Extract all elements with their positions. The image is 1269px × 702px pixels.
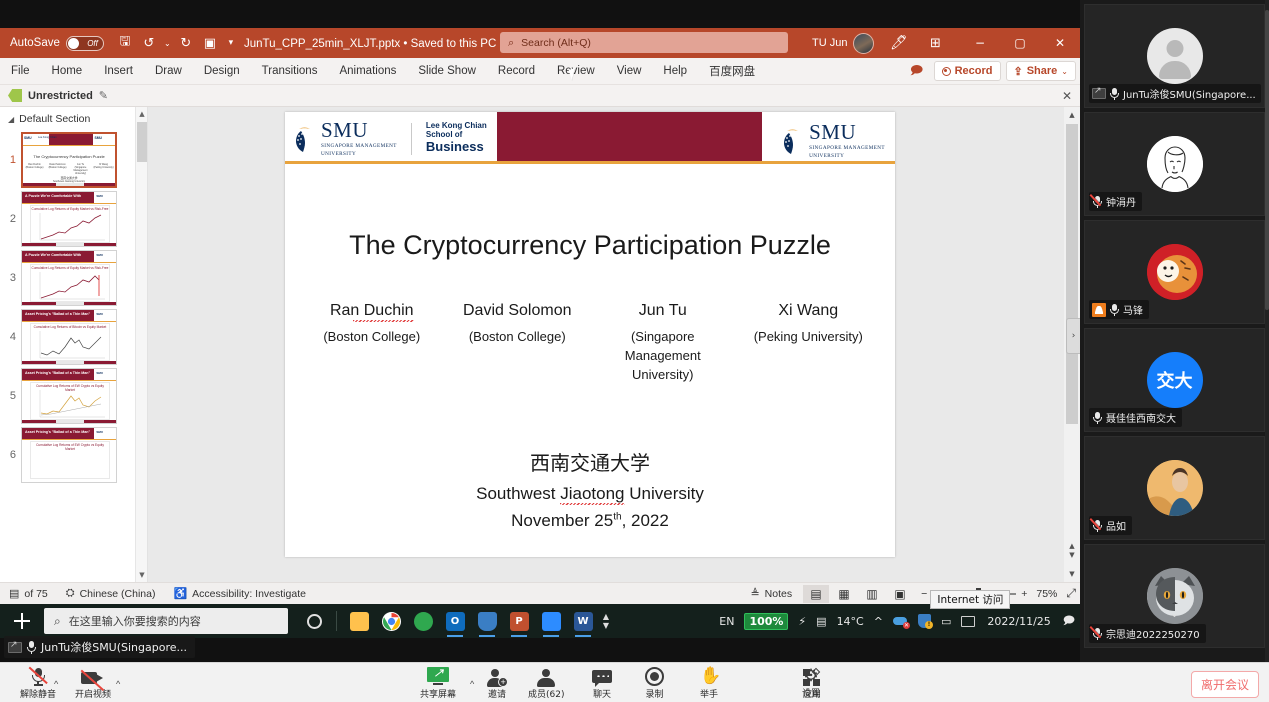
avatar [1147,460,1203,516]
slide-number: 2 [4,191,16,225]
zoom-in-button[interactable]: + [1021,588,1027,600]
share-screen-icon [427,667,449,686]
ribbon-right-actions: 🗩 Record ⇪ Share ⌄ [905,61,1076,81]
language-indicator[interactable]: EN [714,604,739,638]
windows-security-warning-icon[interactable]: ! [913,604,936,638]
screen-share-icon [8,642,22,653]
microphone-muted-icon [1092,195,1103,209]
slide-number-icon: ▤ [9,587,19,600]
share-options-chevron-icon[interactable]: ^ [470,679,474,689]
video-options-chevron-icon[interactable]: ^ [116,679,120,689]
undo-chevron-icon[interactable]: ⌄ [162,32,173,54]
venue-misspelled-word: Jiaotong [560,484,624,504]
thumb-chart: Cumulative Log Returns of Equity Market … [30,264,110,302]
thumb-title: Asset Pricing's "Ballad of a Thin Man" [25,312,90,316]
collapse-filmstrip-handle[interactable]: › [1066,318,1080,354]
author-name: Ran Duchin [330,302,414,320]
taskbar-icon-wps-office[interactable] [407,604,439,638]
venue-prefix: Southwest [476,484,560,503]
school-branding: Lee Kong Chian School of Business [426,122,487,154]
section-name: Default Section [19,113,90,125]
invite-button[interactable]: + 邀请 [487,663,507,702]
taskbar-icon-windows-security[interactable] [471,604,503,638]
participant-tile[interactable]: 钟涓丹 [1084,112,1265,216]
ribbon-tab-bar: File Home Insert Draw Design Transitions… [0,58,1080,85]
start-presentation-icon[interactable]: ▣ [199,32,221,54]
power-plug-icon[interactable]: ⚡ [793,604,811,638]
header-gold-rule [285,161,895,164]
system-tray: EN 100% ⚡ ▤ 14°C ^ ✕ ! ▭ [714,604,1080,638]
active-speaker-label: JunTu涂俊SMU(Singapore... [4,636,195,658]
slide-counter[interactable]: ▤ of 75 [0,587,57,600]
author-name: Xi Wang [778,302,838,320]
thumbnail-item[interactable]: 3 A Puzzle We're Comfortable With SMU Cu… [4,250,147,306]
scroll-down-icon[interactable]: ▼ [1064,566,1080,582]
tab-draw[interactable]: Draw [144,58,193,85]
thumb-title: The Cryptocurrency Participation Puzzle [23,154,115,159]
participant-name-chip: 品如 [1089,516,1132,535]
notes-icon: ≜ [750,587,759,600]
participants-icon [537,669,555,686]
participant-tile[interactable]: JunTu涂俊SMU(Singapore... [1084,4,1265,108]
powerpoint-status-bar: ▤ of 75 ⛭ Chinese (China) ♿ Accessibilit… [0,582,1080,604]
powerpoint-window: AutoSave Off 🖫 ↺ ⌄ ↻ ▣ ▾ JunTu_CPP_25min… [0,28,1080,604]
taskbar-icon-powerpoint[interactable]: P [503,604,535,638]
scroll-up-icon[interactable]: ▲ [136,107,148,121]
quick-access-toolbar: 🖫 ↺ ⌄ ↻ ▣ ▾ [114,32,239,54]
slide-number: 6 [4,427,16,461]
venue-suffix: University [625,484,704,503]
presentation-date: November 25th, 2022 [285,511,895,531]
thumbnail-scrollbar[interactable]: ▲ ▼ [135,107,147,582]
show-hidden-icons-chevron-icon[interactable]: ^ [869,604,888,638]
reading-view-button[interactable]: ▥ [859,585,885,603]
participant-name: 宗思迪2022250270 [1106,626,1200,641]
account-info[interactable]: TU Jun [812,33,874,54]
document-title[interactable]: JunTu_CPP_25min_XLJT.pptx • Saved to thi… [244,36,509,50]
participants-label: 成员(62) [528,687,564,700]
start-button[interactable] [0,604,44,638]
date-suffix: , 2022 [622,511,669,530]
participant-name-chip: JunTu涂俊SMU(Singapore... [1089,84,1261,103]
participant-name: JunTu涂俊SMU(Singapore... [1123,86,1256,101]
tab-animations[interactable]: Animations [328,58,407,85]
slide-thumbnail-5[interactable]: Asset Pricing's "Ballad of a Thin Man" S… [21,368,117,424]
camera-muted-icon [81,670,105,686]
network-icon[interactable]: Internet 访问 [956,604,980,638]
settings-button[interactable]: ⚙ 设置 [802,662,820,702]
slide-thumbnail-pane[interactable]: ◢ Default Section 1 SMU Lee Kong Chian S… [0,107,148,582]
chevron-down-icon: ⌄ [1147,607,1203,620]
spellcheck-icon: ⛭ [66,587,75,600]
previous-slide-button[interactable]: ▲▼ [1064,542,1080,560]
slide-number: 4 [4,309,16,343]
author-affiliation: (Boston College) [445,328,591,347]
participant-tile[interactable]: 品如 [1084,436,1265,540]
accessibility-text: Accessibility: Investigate [192,588,306,600]
slide-thumbnail-2[interactable]: A Puzzle We're Comfortable With SMU Cumu… [21,191,117,247]
participants-button[interactable]: 成员(62) [528,663,564,702]
raise-hand-button[interactable]: ✋ 举手 [700,663,718,702]
filmstrip-scrollbar[interactable] [1265,0,1269,662]
language-indicator[interactable]: ⛭ Chinese (China) [57,587,165,600]
search-placeholder: Search (Alt+Q) [521,37,591,49]
thumb-chart-title: Cumulative Log Returns of EW Crypto vs E… [31,443,109,451]
venue-english: Southwest Jiaotong University [285,484,895,504]
author-affiliation: (Boston College) [299,328,445,347]
thumbnail-item[interactable]: 1 SMU Lee Kong Chian SMU The Cryptocurre… [4,132,147,188]
author-entry: Ran Duchin (Boston College) [299,302,445,385]
search-icon: ⌕ [508,36,514,50]
autosave-label: AutoSave [10,37,60,49]
avatar-initials: 交大 [1157,367,1193,393]
share-screen-button[interactable]: 共享屏幕 [420,663,456,702]
smu-subtitle-2: UNIVERSITY [809,153,885,159]
participant-name-chip: 马锋 [1089,300,1149,319]
smu-wordmark: SMU [809,122,885,143]
sensitivity-tag-icon [8,89,22,102]
avatar: ⌄ [1147,568,1203,624]
raised-hand-icon: ✋ [700,667,718,686]
tab-baidu-netdisk[interactable]: 百度网盘 [698,58,766,85]
chat-icon [592,670,612,686]
action-center-icon[interactable]: 🗩 [1058,604,1080,638]
author-name: David Solomon [463,302,572,320]
smu-wordmark: SMU [321,120,397,141]
pen-icon[interactable]: 🖊 [890,35,908,51]
microphone-icon [1092,411,1103,425]
avatar[interactable] [853,33,874,54]
screen-share-icon [1092,88,1106,99]
thumb-chart: Cumulative Log Returns of Bitcoin vs Equ… [30,323,110,361]
tab-file[interactable]: File [0,58,41,85]
author-affiliation: (Singapore Management University) [590,328,736,385]
record-label: Record [955,65,993,77]
microphone-icon [1109,87,1120,101]
microphone-icon [1109,303,1120,317]
window-controls: − ▢ ✕ [960,28,1080,58]
leave-meeting-label: 离开会议 [1201,678,1249,692]
chat-button[interactable]: 聊天 [592,663,612,702]
status-bar-right: ≜ Notes ▤ ▦ ▥ ▣ − + 75% ⤢ [741,585,1076,603]
participant-tile[interactable]: ⌄ 宗思迪2022250270 [1084,544,1265,648]
unmute-label: 解除静音 [20,687,56,700]
close-icon[interactable]: ✕ [1062,89,1072,103]
tab-view[interactable]: View [606,58,653,85]
avatar [1147,136,1203,192]
participant-name: 钟涓丹 [1106,194,1136,209]
section-header[interactable]: ◢ Default Section [0,107,147,129]
tab-design[interactable]: Design [193,58,251,85]
tab-transitions[interactable]: Transitions [251,58,329,85]
header-maroon-block [497,112,762,164]
participant-name: 品如 [1106,518,1126,533]
search-icon: ⌕ [54,614,61,629]
slide-thumbnail-1[interactable]: SMU Lee Kong Chian SMU The Cryptocurrenc… [21,132,117,188]
zoom-meeting-controls: 解除静音 ^ 开启视频 ^ 共享屏幕 ^ + 邀请 [0,662,1269,702]
taskbar-icon-zoom[interactable] [535,604,567,638]
tab-help[interactable]: Help [652,58,698,85]
thumb-title: Asset Pricing's "Ballad of a Thin Man" [25,371,90,375]
date-ordinal-suffix: th [613,511,621,522]
avatar [1147,28,1203,84]
zoom-out-button[interactable]: − [921,588,927,600]
battery-indicator[interactable]: 100% [739,604,793,638]
undo-icon[interactable]: ↺ [138,32,160,54]
news-and-interests-icon[interactable]: ▤ [811,604,831,638]
scrollbar-thumb[interactable] [137,122,147,162]
accessibility-icon: ♿ [173,587,187,600]
language-text: Chinese (China) [80,588,156,600]
slide-number: 3 [4,250,16,284]
zoom-participant-filmstrip[interactable]: JunTu涂俊SMU(Singapore... [1080,0,1269,662]
tab-record[interactable]: Record [487,58,546,85]
battery-percent: 100% [744,613,788,630]
slide-thumbnail-3[interactable]: A Puzzle We're Comfortable With SMU Cumu… [21,250,117,306]
normal-view-button[interactable]: ▤ [803,585,829,603]
author-list: Ran Duchin (Boston College) David Solomo… [299,302,881,385]
record-icon [645,667,664,686]
audio-options-chevron-icon[interactable]: ^ [54,679,58,689]
account-name: TU Jun [812,37,847,49]
participant-name-chip: 钟涓丹 [1089,192,1142,211]
close-button[interactable]: ✕ [1040,28,1080,58]
thumb-chart: Cumulative Log Returns of EW Crypto vs E… [30,382,110,420]
thumb-gold-rule [23,145,115,146]
search-input[interactable]: ⌕ Search (Alt+Q) [500,32,788,53]
temperature-text[interactable]: 14°C [832,604,869,638]
zoom-level-text: 75% [1036,588,1057,600]
share-label: Share [1027,65,1058,77]
author-name: Jun Tu [639,302,687,320]
host-badge-icon [1092,303,1106,317]
scrollbar-thumb[interactable] [1066,124,1078,424]
scroll-down-icon[interactable]: ▼ [136,568,148,582]
microphone-muted-icon [29,667,47,686]
author-affiliation: (Peking University) [736,328,882,347]
chevron-down-icon: ⌄ [1061,67,1068,76]
venue-chinese: 西南交通大学 [285,447,895,476]
participant-tile[interactable]: 交大 聂佳佳西南交大 [1084,328,1265,432]
powerpoint-title-bar: AutoSave Off 🖫 ↺ ⌄ ↻ ▣ ▾ JunTu_CPP_25min… [0,28,1080,58]
taskbar-icon-google-chrome[interactable] [375,604,407,638]
slide-show-button[interactable]: ▣ [887,585,913,603]
slide-title: The Cryptocurrency Participation Puzzle [285,230,895,261]
participant-name-chip: 聂佳佳西南交大 [1089,408,1182,427]
redo-icon[interactable]: ↻ [175,32,197,54]
author-entry: Jun Tu (Singapore Management University) [590,302,736,385]
save-icon[interactable]: 🖫 [114,32,136,54]
microphone-muted-icon [1092,519,1103,533]
invite-icon: + [487,669,507,686]
date-prefix: November 25 [511,511,613,530]
taskbar-icon-outlook[interactable]: O [439,604,471,638]
participant-name: 聂佳佳西南交大 [1106,410,1176,425]
pencil-icon[interactable]: ✎ [99,89,108,102]
thumb-title: A Puzzle We're Comfortable With [25,194,81,198]
ribbon-display-options-icon[interactable]: ⊞ [930,36,941,51]
taskbar-icon-word[interactable]: W [567,604,599,638]
accessibility-indicator[interactable]: ♿ Accessibility: Investigate [164,587,315,600]
thumb-title: Asset Pricing's "Ballad of a Thin Man" [25,430,90,434]
tab-home[interactable]: Home [41,58,94,85]
share-icon: ⇪ [1014,65,1023,78]
start-video-button[interactable]: 开启视频 [75,663,111,702]
smu-subtitle-2: UNIVERSITY [321,151,397,157]
author-entry: Xi Wang (Peking University) [736,302,882,385]
thumbnail-item[interactable]: 6 Asset Pricing's "Ballad of a Thin Man"… [4,427,147,483]
record-button[interactable]: Record [934,61,1001,81]
usb-device-icon[interactable]: ▭ [936,604,956,638]
thumbnail-item[interactable]: 2 A Puzzle We're Comfortable With SMU Cu… [4,191,147,247]
gear-icon: ⚙ [802,667,820,685]
chat-label: 聊天 [593,687,611,700]
settings-label: 设置 [802,686,820,699]
autosave-state: Off [87,39,98,48]
smu-logo-left: SMU SINGAPORE MANAGEMENT UNIVERSITY Lee … [293,120,487,157]
microphone-muted-icon [1092,627,1103,641]
thumbnail-item[interactable]: 5 Asset Pricing's "Ballad of a Thin Man"… [4,368,147,424]
record-label: 录制 [645,687,663,700]
comments-icon[interactable]: 🗩 [905,61,929,81]
smu-subtitle-1: SINGAPORE MANAGEMENT [321,143,397,149]
slide-header: SMU SINGAPORE MANAGEMENT UNIVERSITY Lee … [285,112,895,164]
sensitivity-label-bar: Unrestricted ✎ ✕ [0,85,1080,107]
sensitivity-label: Unrestricted [28,90,93,102]
notes-button[interactable]: ≜ Notes [741,587,801,600]
thumbnail-item[interactable]: 4 Asset Pricing's "Ballad of a Thin Man"… [4,309,147,365]
microphone-icon [26,640,37,654]
raise-hand-label: 举手 [700,687,718,700]
share-button[interactable]: ⇪ Share ⌄ [1006,61,1077,81]
taskbar-divider [336,611,337,631]
venue-block: 西南交通大学 Southwest Jiaotong University Nov… [285,447,895,531]
avatar [1147,244,1203,300]
smu-subtitle-1: SINGAPORE MANAGEMENT [809,145,885,151]
participant-name: 马锋 [1123,302,1143,317]
thumb-footer [23,183,115,187]
onedrive-icon[interactable]: ✕ [888,604,913,638]
minimize-button[interactable]: − [960,28,1000,58]
windows-taskbar: ⌕ 在这里输入你要搜索的内容 O P W [0,604,1080,638]
powerpoint-workspace: ◢ Default Section 1 SMU Lee Kong Chian S… [0,107,1080,582]
invite-label: 邀请 [488,687,506,700]
unmute-button[interactable]: 解除静音 [20,663,56,702]
leave-meeting-button[interactable]: 离开会议 [1191,671,1259,698]
slide-number: 1 [4,132,16,166]
share-screen-label: 共享屏幕 [420,687,456,700]
fit-to-window-icon[interactable]: ⤢ [1066,586,1076,601]
scroll-up-icon[interactable]: ▲ [1064,107,1080,123]
thumb-chart: Cumulative Log Returns of Equity Market … [30,205,110,243]
record-button[interactable]: 录制 [645,663,664,702]
slide-canvas-area: SMU SINGAPORE MANAGEMENT UNIVERSITY Lee … [148,107,1064,582]
tab-insert[interactable]: Insert [93,58,144,85]
taskbar-overflow-chevron-icon[interactable]: ▲▼ [599,604,613,638]
avatar: 交大 [1147,352,1203,408]
maximize-button[interactable]: ▢ [1000,28,1040,58]
search-placeholder: 在这里输入你要搜索的内容 [69,613,201,629]
taskbar-search-input[interactable]: ⌕ 在这里输入你要搜索的内容 [44,608,288,634]
participant-name-chip: 宗思迪2022250270 [1089,624,1206,643]
slide-number: 5 [4,368,16,402]
clock-date[interactable]: 2022/11/25 [980,615,1057,628]
customize-qat-icon[interactable]: ▾ [223,32,239,54]
smu-crest-icon [293,126,315,152]
notes-label: Notes [765,588,792,600]
slide-sorter-view-button[interactable]: ▦ [831,585,857,603]
tab-slide-show[interactable]: Slide Show [407,58,487,85]
thumb-chart: Cumulative Log Returns of EW Crypto vs E… [30,441,110,479]
participant-tile[interactable]: 马锋 [1084,220,1265,324]
cortana-icon[interactable] [298,604,330,638]
spacer [900,663,901,702]
smu-logo-right: SMU SINGAPORE MANAGEMENT UNIVERSITY [781,122,885,159]
slide-thumbnail-4[interactable]: Asset Pricing's "Ballad of a Thin Man" S… [21,309,117,365]
taskbar-icon-file-explorer[interactable] [343,604,375,638]
active-speaker-name: JunTu涂俊SMU(Singapore... [41,639,187,655]
slide-thumbnail-6[interactable]: Asset Pricing's "Ballad of a Thin Man" S… [21,427,117,483]
collapse-triangle-icon[interactable]: ◢ [8,115,14,124]
start-video-label: 开启视频 [75,687,111,700]
logo-divider [411,123,412,155]
school-line-3: Business [426,140,487,155]
current-slide[interactable]: SMU SINGAPORE MANAGEMENT UNIVERSITY Lee … [285,112,895,557]
smu-crest-icon [781,128,803,154]
autosave-toggle[interactable]: Off [66,36,104,51]
network-tooltip: Internet 访问 [930,590,1010,609]
record-dot-icon [942,67,951,76]
slide-counter-text: of 75 [24,588,47,600]
author-entry: David Solomon (Boston College) [445,302,591,385]
thumb-title: A Puzzle We're Comfortable With [25,253,81,257]
